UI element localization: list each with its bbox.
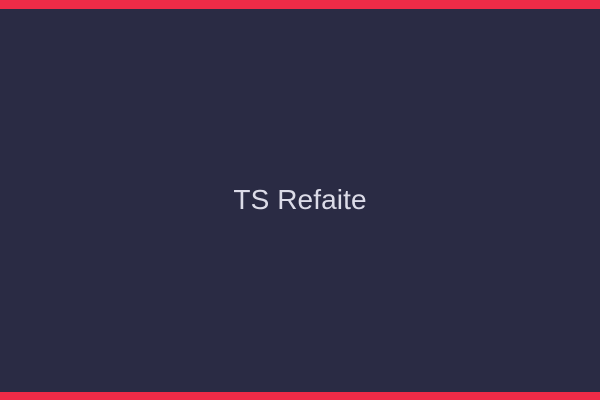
bottom-accent-bar	[0, 392, 600, 400]
placeholder-screen: TS Refaite	[0, 0, 600, 400]
page-title: TS Refaite	[233, 185, 366, 216]
top-accent-bar	[0, 0, 600, 9]
content-stage: TS Refaite	[0, 9, 600, 392]
